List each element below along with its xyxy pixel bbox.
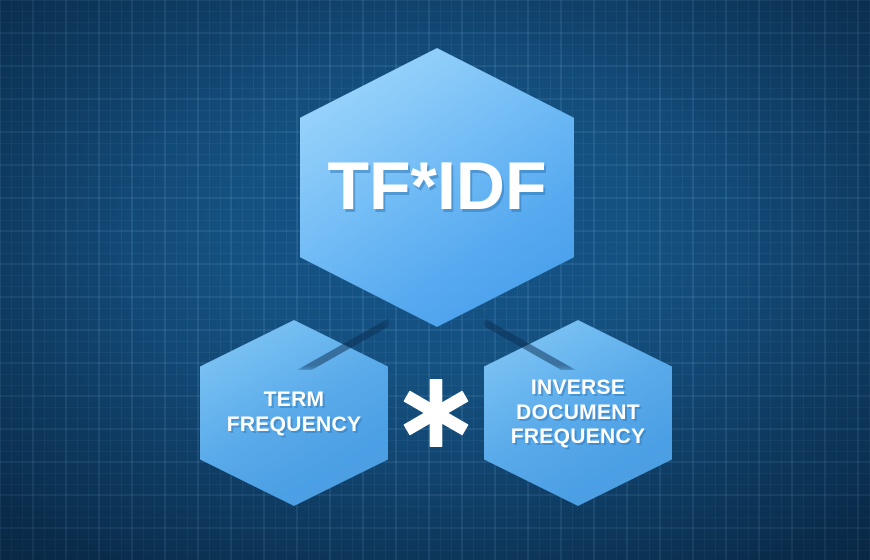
hexagon-term-frequency-label: TERM FREQUENCY: [221, 388, 368, 438]
diagram-canvas: TERM FREQUENCY INVERSE DOCUMENT FREQUENC…: [0, 0, 870, 560]
term-frequency-line-1: TERM: [227, 388, 362, 413]
idf-line-1: INVERSE: [511, 376, 646, 401]
hexagon-inverse-document-frequency-label: INVERSE DOCUMENT FREQUENCY: [505, 376, 652, 450]
asterisk-icon: [398, 375, 474, 451]
idf-line-2: DOCUMENT: [511, 401, 646, 426]
idf-line-3: FREQUENCY: [511, 425, 646, 450]
term-frequency-line-2: FREQUENCY: [227, 413, 362, 438]
hexagon-tfidf-label: TF*IDF: [327, 152, 546, 220]
